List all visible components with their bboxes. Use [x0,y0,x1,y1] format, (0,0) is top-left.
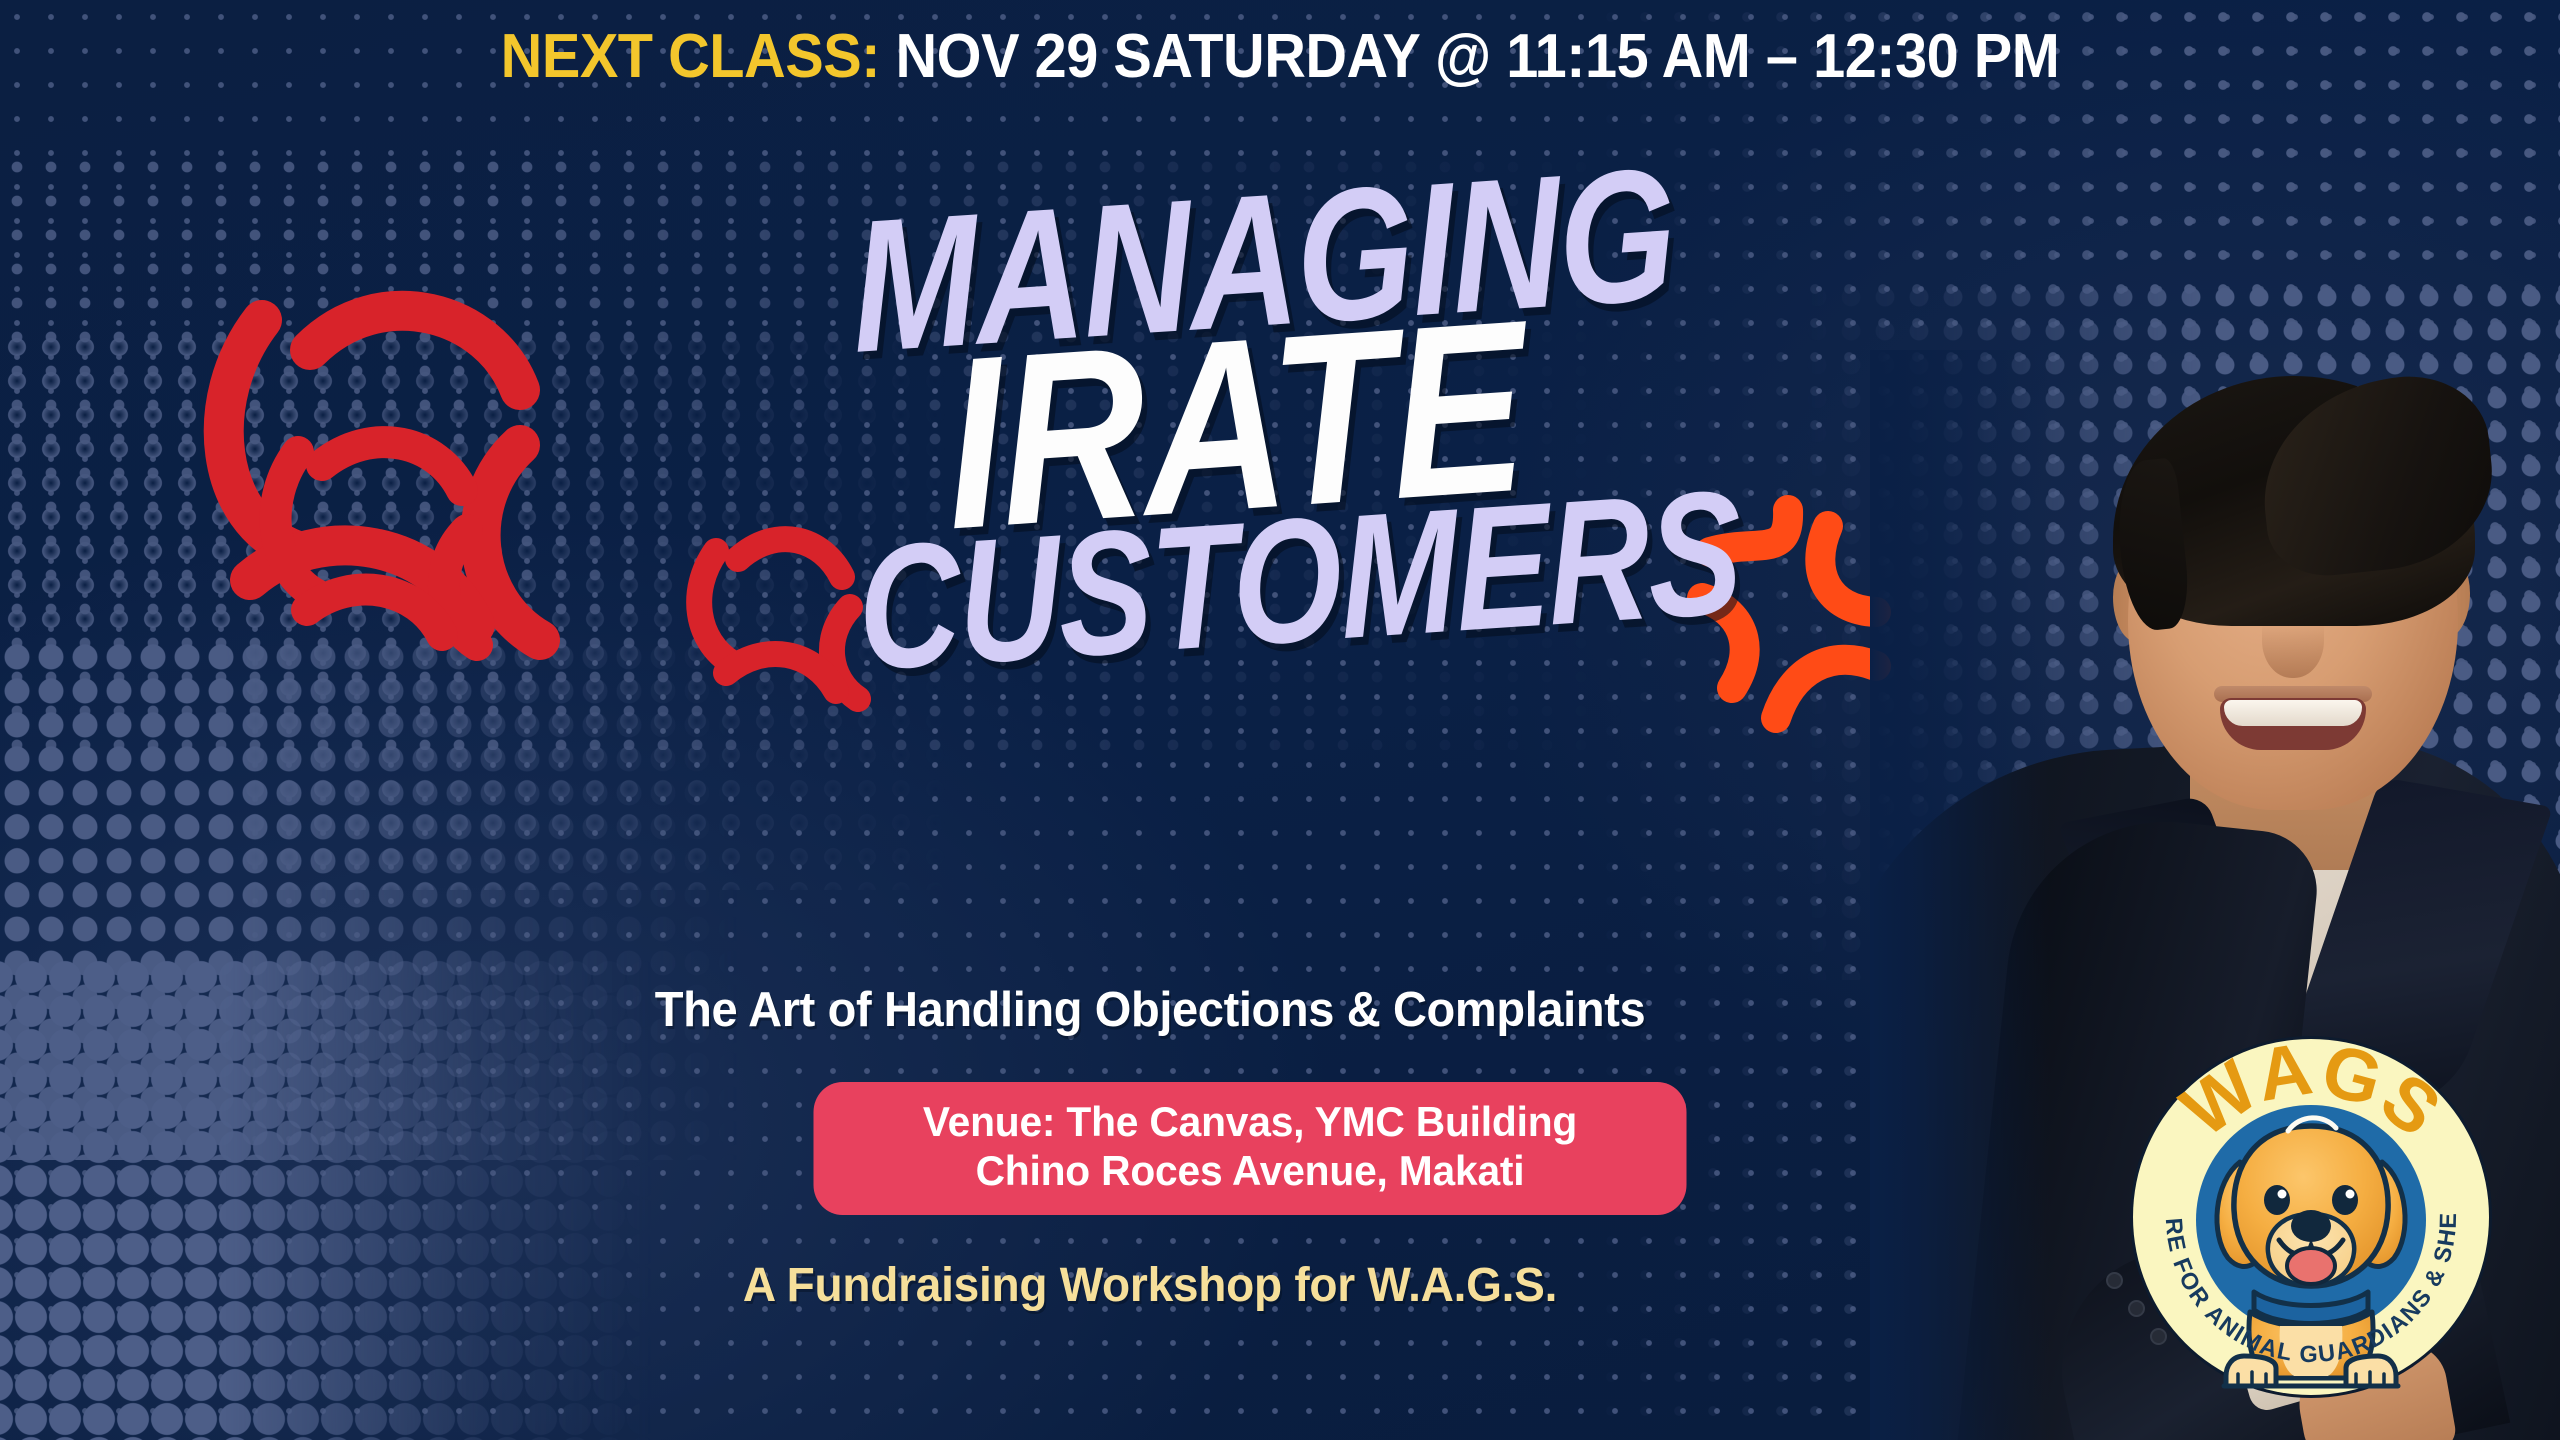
portrait-sleeve-button-1 [2106,1272,2123,1289]
poster: NEXT CLASS: NOV 29 SATURDAY @ 11:15 AM –… [0,0,2560,1440]
next-class-datetime: NOV 29 SATURDAY @ 11:15 AM – 12:30 PM [880,22,2059,91]
main-title: MANAGING IRATE CUSTOMERS [760,185,1710,658]
venue-line-1: Venue: The Canvas, YMC Building [852,1098,1647,1147]
anger-burst-icon-left-lower [262,410,522,660]
next-class-banner: NEXT CLASS: NOV 29 SATURDAY @ 11:15 AM –… [90,26,2471,88]
title-line-customers: CUSTOMERS [856,488,1621,682]
logo-puppy-nose [2291,1210,2331,1242]
venue-badge: Venue: The Canvas, YMC Building Chino Ro… [814,1082,1687,1215]
portrait-smile [2220,698,2366,750]
next-class-label: NEXT CLASS: [501,22,880,91]
logo-puppy-eye-left [2264,1185,2290,1215]
wags-logo: WAGS WELFARE FOR ANIMAL GUARDIANS & SHEL… [2128,1034,2494,1400]
logo-puppy-eye-right [2332,1185,2358,1215]
subtitle: The Art of Handling Objections & Complai… [584,982,1717,1038]
fundraiser-tagline: A Fundraising Workshop for W.A.G.S. [584,1258,1717,1313]
portrait-teeth [2224,700,2362,726]
venue-line-2: Chino Roces Avenue, Makati [852,1147,1647,1196]
